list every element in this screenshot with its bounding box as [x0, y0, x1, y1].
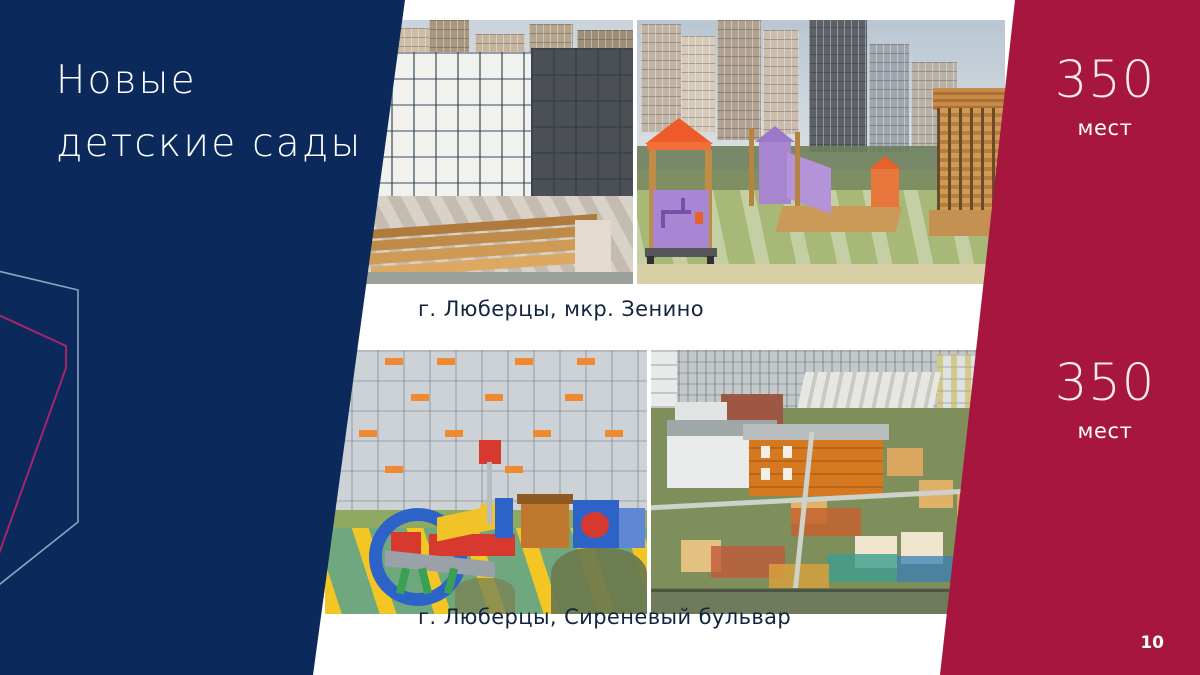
caption-sirenevy-bulvar: г. Люберцы, Сиреневый бульвар	[418, 605, 791, 629]
page-title: Новые детские сады	[56, 52, 386, 173]
photo-row-2	[325, 350, 1005, 614]
photo-grid	[325, 0, 1005, 675]
presentation-slide: г. Люберцы, мкр. Зенино г. Люберцы, Сире…	[0, 0, 1200, 675]
photo-playground-with-blue-red-climbing-structure	[325, 350, 647, 614]
photo-row-1	[325, 20, 1005, 284]
photo-playground-with-orange-roof-play-house	[637, 20, 1005, 284]
stat-unit-1: мест	[1030, 116, 1180, 140]
title-line-2: детские сады	[56, 115, 386, 174]
stat-capacity-sirenevy: 350 мест	[1030, 358, 1180, 443]
stat-number-1: 350	[1030, 55, 1180, 106]
title-line-1: Новые	[56, 52, 386, 111]
caption-zenino: г. Люберцы, мкр. Зенино	[418, 297, 704, 321]
page-number: 10	[1140, 633, 1164, 653]
stat-capacity-zenino: 350 мест	[1030, 55, 1180, 140]
stat-number-2: 350	[1030, 358, 1180, 409]
stat-unit-2: мест	[1030, 419, 1180, 443]
